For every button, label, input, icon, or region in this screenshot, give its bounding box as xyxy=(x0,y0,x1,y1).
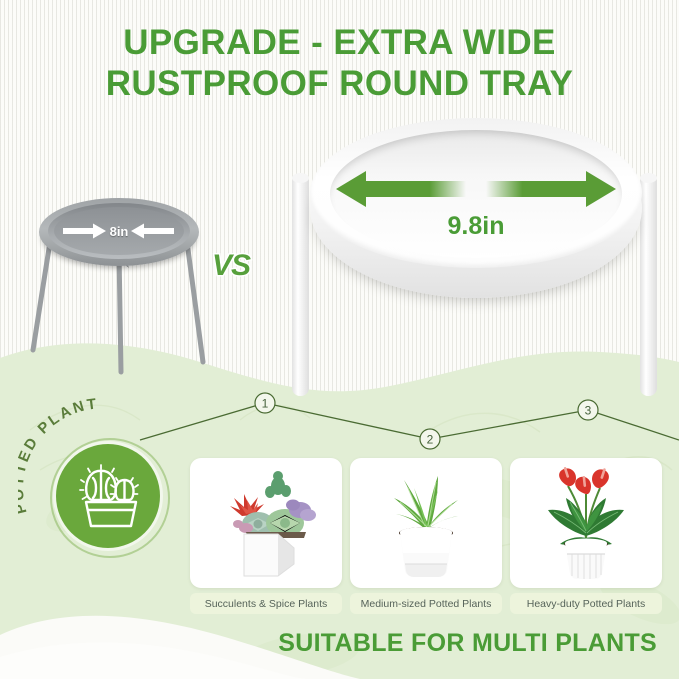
page-title: UPGRADE - EXTRA WIDE RUSTPROOF ROUND TRA… xyxy=(0,22,679,105)
plant-card[interactable] xyxy=(190,458,342,588)
new-tray-dimension-label: 9.8in xyxy=(336,212,616,241)
plant-card-list xyxy=(190,458,662,613)
connector-marker-1: 1 xyxy=(262,397,269,411)
old-tray-dimension-label: 8in xyxy=(109,224,130,239)
connector-marker-3: 3 xyxy=(585,404,592,418)
plant-card-label: Succulents & Spice Plants xyxy=(190,593,342,614)
connector-marker-2: 2 xyxy=(427,433,434,447)
footer-banner: SUITABLE FOR MULTI PLANTS xyxy=(0,629,657,658)
new-white-tray: 9.8in xyxy=(286,108,666,398)
succulent-plant-image xyxy=(190,458,342,588)
new-tray-dimension: 9.8in xyxy=(336,170,616,210)
plant-card[interactable] xyxy=(350,458,502,588)
infographic-canvas: UPGRADE - EXTRA WIDE RUSTPROOF ROUND TRA… xyxy=(0,0,679,679)
versus-label: VS xyxy=(212,249,250,283)
arrow-right-icon xyxy=(63,223,107,239)
old-tray-dimension: 8in xyxy=(54,220,184,242)
anthurium-plant-image xyxy=(510,458,662,588)
plant-label-list: Succulents & Spice Plants Medium-sized P… xyxy=(190,593,662,614)
plant-card[interactable] xyxy=(510,458,662,588)
cactus-pot-icon xyxy=(73,460,143,532)
connector-path: 1 2 3 xyxy=(0,380,679,470)
arrow-left-icon xyxy=(131,223,175,239)
old-gray-tray: 8in xyxy=(17,190,217,380)
connector-markers: 1 2 3 xyxy=(255,393,598,449)
plant-card-label: Heavy-duty Potted Plants xyxy=(510,593,662,614)
double-arrow-icon xyxy=(336,170,616,210)
aloe-plant-image xyxy=(350,458,502,588)
plant-card-label: Medium-sized Potted Plants xyxy=(350,593,502,614)
